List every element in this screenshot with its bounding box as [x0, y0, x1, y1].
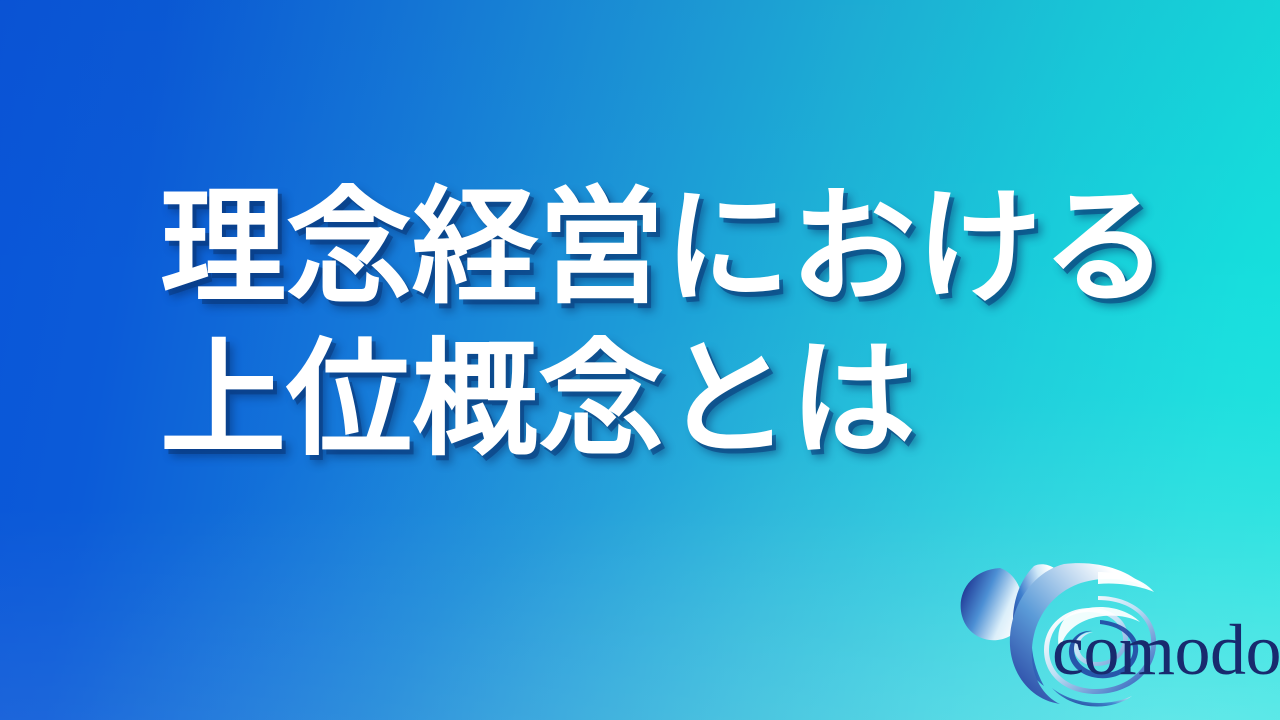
slide-canvas: 理念経営における 上位概念とは: [0, 0, 1280, 720]
title-line-1: 理念経営における: [160, 172, 1220, 324]
page-title: 理念経営における 上位概念とは: [160, 172, 1220, 476]
title-line-2: 上位概念とは: [160, 324, 1220, 476]
comodo-logo[interactable]: comodo: [948, 552, 1248, 707]
comodo-wordmark: comodo: [1052, 614, 1280, 686]
